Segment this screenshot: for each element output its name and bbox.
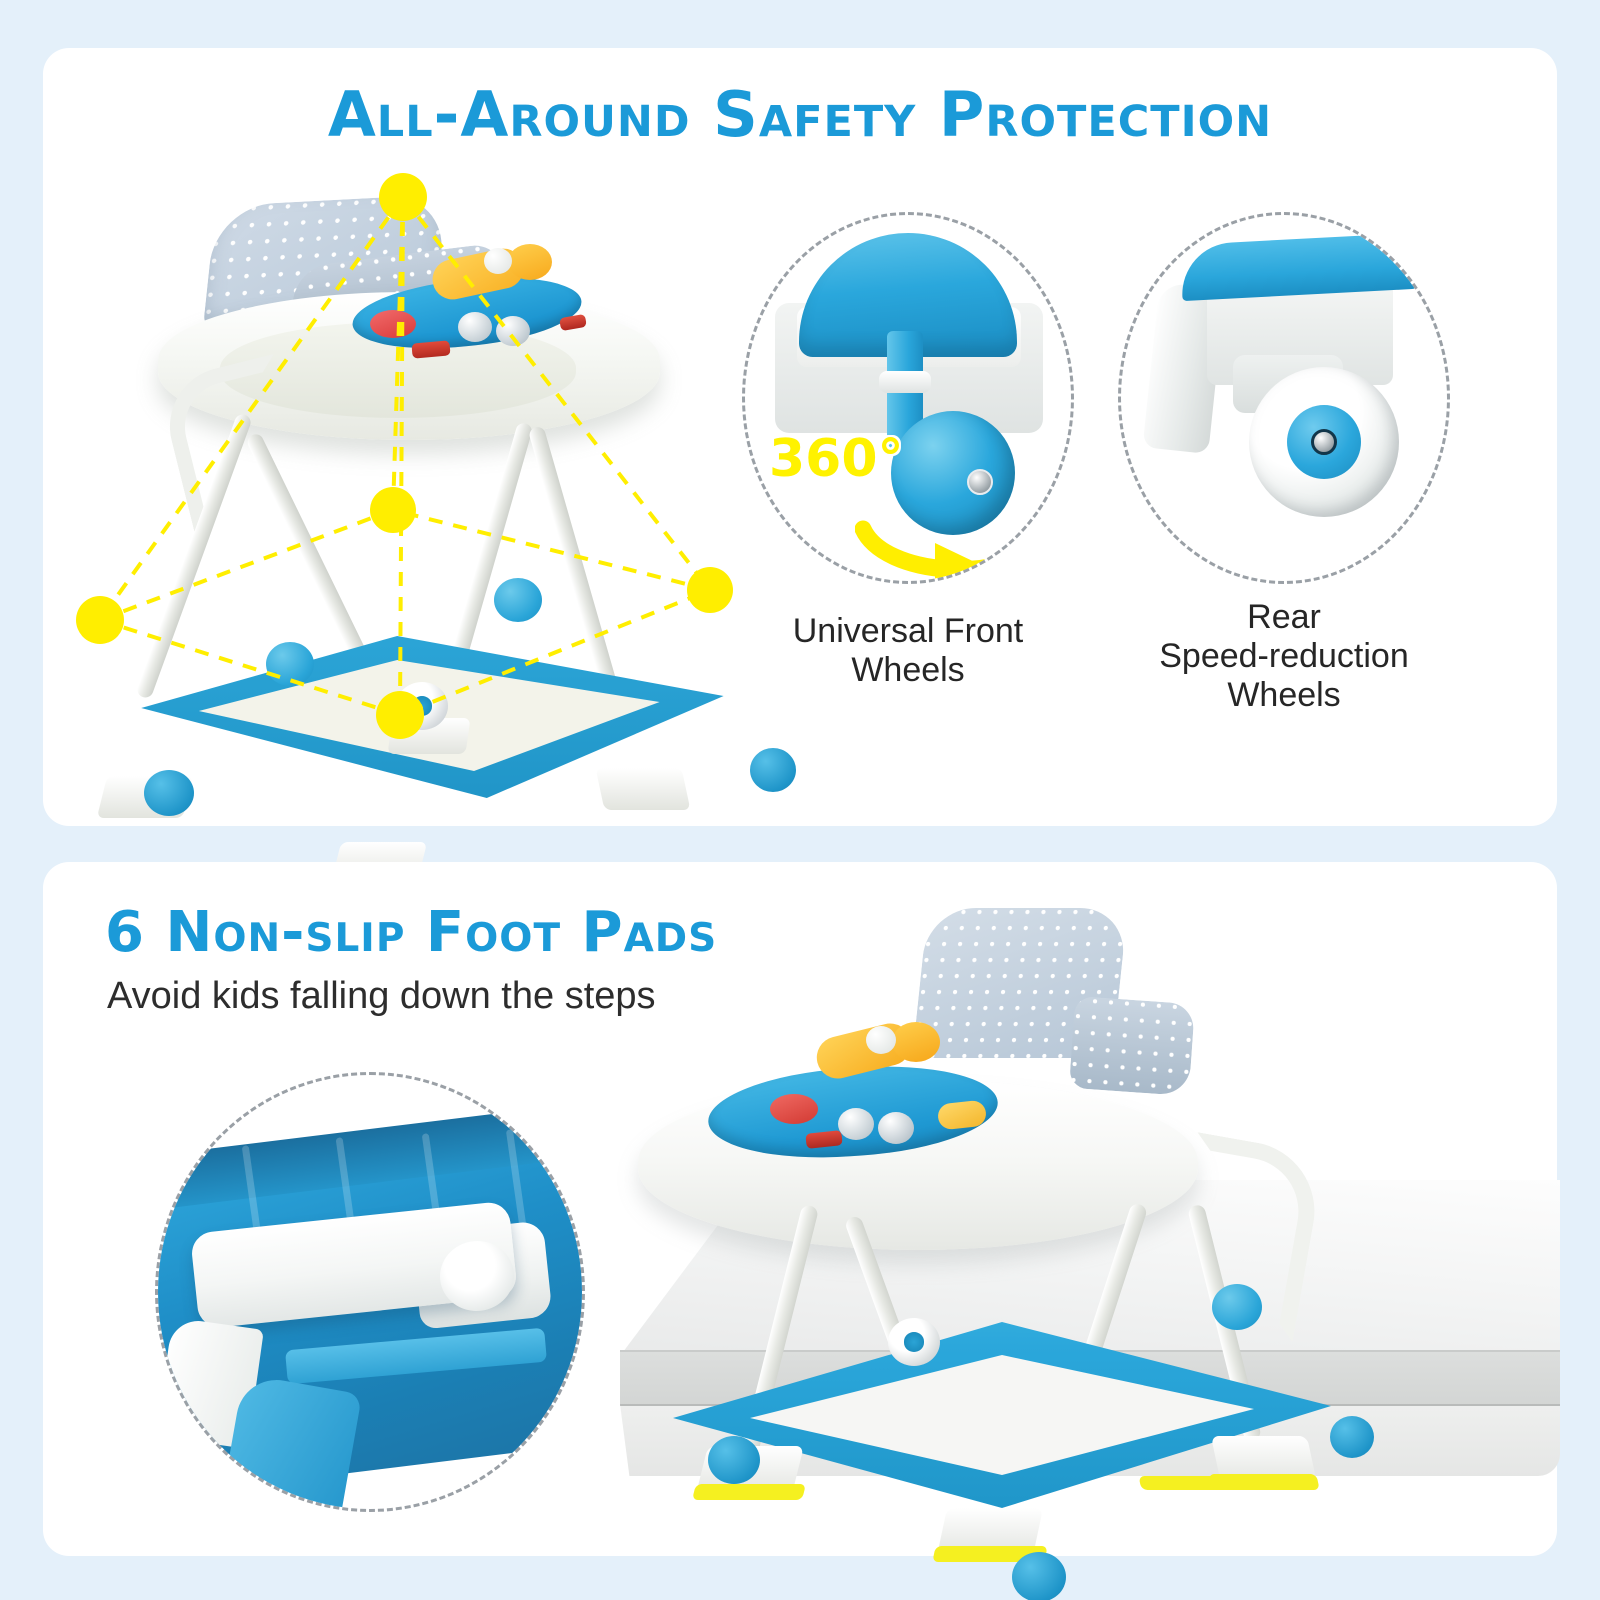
caption-line: Wheels [742, 651, 1074, 690]
walker-on-step-scene [620, 880, 1560, 1556]
toy-white-ball [484, 248, 512, 274]
toy-clear-bead-2 [496, 316, 530, 346]
caption-line: Speed-reduction [1118, 637, 1450, 676]
top-section-title: All-Around Safety Protection [0, 78, 1600, 151]
walker2-toy-clear-bead-1 [838, 1108, 874, 1140]
caption-line: Rear [1118, 598, 1450, 637]
walker-caster-3 [750, 748, 796, 792]
caption-universal-front-wheels: Universal Front Wheels [742, 612, 1074, 690]
bottom-section-subtitle: Avoid kids falling down the steps [107, 975, 656, 1018]
toy-orange-knob [508, 244, 552, 280]
inset-rear-speed-reduction-wheels [1118, 212, 1450, 584]
walker2-caster-1 [708, 1436, 760, 1484]
front-wheel-collar [879, 371, 931, 393]
walker2-caster-3 [1330, 1416, 1374, 1458]
rotation-arrow-icon [855, 503, 1055, 584]
walker2-toy-red-dome [770, 1094, 818, 1124]
walker2-toy-clear-bead-2 [878, 1112, 914, 1144]
rear-wheel-axle-screw [1311, 429, 1337, 455]
walker2-seat-side [1069, 996, 1195, 1096]
walker-caster-1 [144, 770, 194, 816]
walker-joint-knob-2 [494, 578, 542, 622]
inset-foot-pad-closeup [155, 1072, 585, 1512]
walker2-rear-wheel [888, 1318, 940, 1366]
front-wheel-hub-screw [967, 469, 993, 495]
caption-line: Wheels [1118, 676, 1450, 715]
walker2-foot-pad-6 [1139, 1476, 1238, 1490]
toy-red-dome [370, 310, 416, 338]
main-walker-illustration [60, 170, 760, 790]
walker2-foot-pad-1 [692, 1484, 806, 1500]
walker2-toy-orange-knob [892, 1022, 940, 1062]
walker2-caster-2 [1012, 1552, 1066, 1600]
inset-universal-front-wheels: 360° [742, 212, 1074, 584]
walker2-toy-white-ball [866, 1026, 896, 1054]
caption-rear-speed-reduction-wheels: Rear Speed-reduction Wheels [1118, 598, 1450, 714]
caption-line: Universal Front [742, 612, 1074, 651]
walker-joint-knob-1 [266, 642, 314, 686]
walker-rear-wheel [396, 682, 448, 730]
walker-foot-pad-3 [596, 768, 691, 810]
toy-clear-bead-1 [458, 312, 492, 342]
badge-360-degree: 360° [769, 429, 904, 489]
infographic-stage: All-Around Safety Protection [0, 0, 1600, 1600]
walker2-joint-knob [1212, 1284, 1262, 1330]
